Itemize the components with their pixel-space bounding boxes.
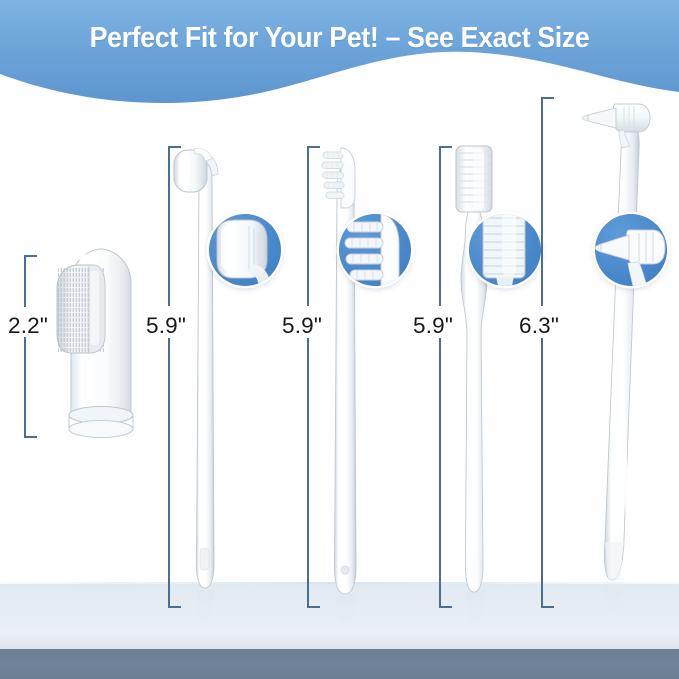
product-silicone-tip-brush bbox=[443, 140, 513, 610]
finger-brush-reflection bbox=[45, 582, 145, 616]
magnifier-flat-pad-brush bbox=[209, 214, 281, 286]
measurement-bracket-bristle-brush bbox=[307, 146, 321, 608]
measurement-label-flat-pad-brush: 5.9" bbox=[146, 313, 186, 339]
measurement-bracket-angled-brush bbox=[541, 97, 555, 608]
product-angled-brush bbox=[564, 90, 674, 620]
product-flat-pad-brush bbox=[172, 140, 242, 610]
bristle-brush-reflection bbox=[311, 595, 381, 635]
magnifier-flat-pad-detail bbox=[209, 214, 281, 286]
product-bristle-brush bbox=[311, 140, 381, 610]
magnifier-bristle-brush bbox=[339, 214, 411, 286]
measurement-bracket-silicone-tip-brush bbox=[439, 146, 453, 608]
measurement-label-bristle-brush: 5.9" bbox=[282, 313, 322, 339]
infographic-canvas: Perfect Fit for Your Pet! – See Exact Si… bbox=[0, 0, 679, 679]
silicone-tip-brush-icon bbox=[443, 140, 513, 610]
measurement-label-silicone-tip-brush: 5.9" bbox=[413, 313, 453, 339]
measurement-bracket-flat-pad-brush bbox=[168, 146, 182, 608]
measurement-label-angled-brush: 6.3" bbox=[519, 313, 559, 339]
angled-brush-reflection bbox=[564, 578, 674, 620]
measurement-bracket-finger-brush bbox=[24, 255, 38, 438]
magnifier-bristle-detail bbox=[339, 214, 411, 286]
magnifier-angled-detail bbox=[595, 214, 667, 286]
bristle-brush-icon bbox=[311, 140, 381, 610]
product-finger-brush bbox=[45, 243, 145, 443]
magnifier-angled-brush bbox=[595, 214, 667, 286]
magnifier-silicone-tip-detail bbox=[469, 214, 541, 286]
measurement-label-finger-brush: 2.2" bbox=[8, 313, 48, 339]
flat-pad-brush-icon bbox=[172, 140, 242, 610]
baseboard-band bbox=[0, 649, 679, 679]
magnifier-silicone-tip-brush bbox=[469, 214, 541, 286]
angled-brush-icon bbox=[564, 90, 674, 620]
page-title: Perfect Fit for Your Pet! – See Exact Si… bbox=[20, 22, 658, 55]
finger-brush-icon bbox=[45, 243, 145, 443]
flat-pad-brush-reflection bbox=[172, 590, 242, 630]
silicone-tip-brush-reflection bbox=[443, 592, 513, 632]
